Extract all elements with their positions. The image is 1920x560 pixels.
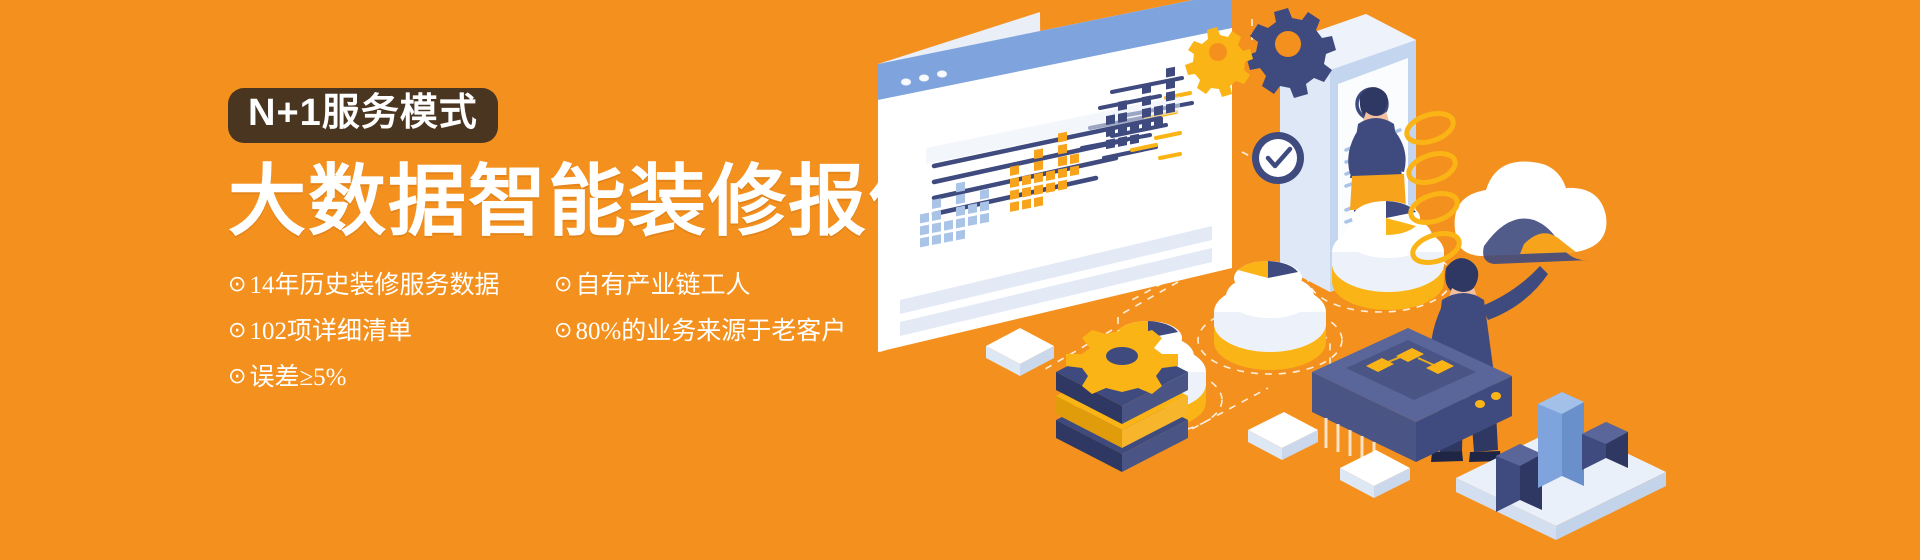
- feature-list: ⊙ 14年历史装修服务数据 ⊙ 102项详细清单 ⊙ 误差≥5% ⊙ 自有产业链…: [228, 273, 968, 411]
- isometric-illustration: [860, 0, 1920, 560]
- feature-column-left: ⊙ 14年历史装修服务数据 ⊙ 102项详细清单 ⊙ 误差≥5%: [228, 273, 528, 411]
- banner-copy: N+1服务模式 大数据智能装修报价 ⊙ 14年历史装修服务数据 ⊙ 102项详细…: [228, 88, 968, 411]
- feature-column-right: ⊙ 自有产业链工人 ⊙ 80%的业务来源于老客户: [554, 273, 874, 411]
- feature-item: ⊙ 80%的业务来源于老客户: [554, 319, 874, 344]
- feature-label: 80%的业务来源于老客户: [575, 319, 846, 344]
- feature-item: ⊙ 102项详细清单: [228, 319, 528, 344]
- bullet-dot-icon: ⊙: [554, 319, 572, 344]
- bullet-dot-icon: ⊙: [228, 273, 246, 298]
- banner-headline: 大数据智能装修报价: [228, 161, 968, 243]
- feature-label: 误差≥5%: [249, 365, 346, 390]
- bullet-dot-icon: ⊙: [228, 365, 246, 390]
- browser-dashboard-window: [878, 0, 1232, 352]
- bullet-dot-icon: ⊙: [228, 319, 246, 344]
- cloud-shape: [1455, 162, 1607, 264]
- feature-item: ⊙ 误差≥5%: [228, 365, 528, 390]
- feature-label: 102项详细清单: [249, 319, 412, 344]
- bullet-dot-icon: ⊙: [554, 273, 572, 298]
- feature-item: ⊙ 14年历史装修服务数据: [228, 273, 528, 298]
- service-mode-badge: N+1服务模式: [228, 88, 498, 143]
- check-badge: [1252, 132, 1304, 184]
- promo-banner: N+1服务模式 大数据智能装修报价 ⊙ 14年历史装修服务数据 ⊙ 102项详细…: [0, 0, 1920, 560]
- feature-label: 14年历史装修服务数据: [249, 273, 499, 298]
- feature-label: 自有产业链工人: [575, 273, 750, 298]
- feature-item: ⊙ 自有产业链工人: [554, 273, 874, 298]
